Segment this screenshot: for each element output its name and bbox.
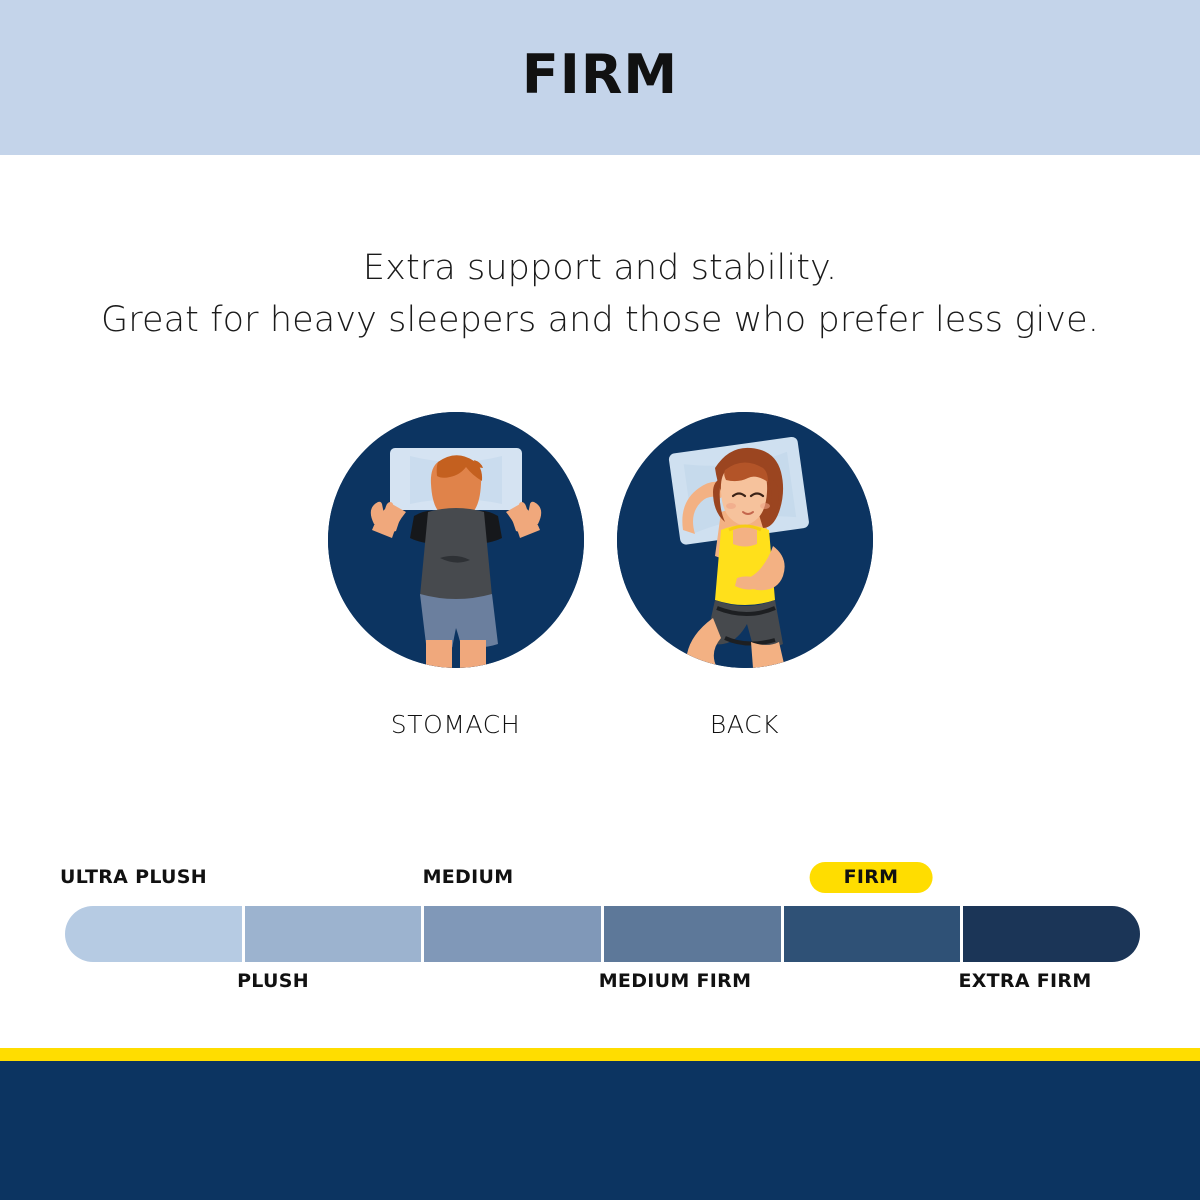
firmness-label-ultra-plush[interactable]: ULTRA PLUSH — [60, 862, 207, 892]
firmness-label-extra-firm[interactable]: EXTRA FIRM — [958, 966, 1091, 996]
stomach-sleeper-illustration — [328, 412, 584, 668]
footer-accent-stripe — [0, 1048, 1200, 1061]
firmness-label-plush[interactable]: PLUSH — [237, 966, 309, 996]
header-band: FIRM — [0, 0, 1200, 155]
sleep-positions-group: STOMACH — [0, 412, 1200, 739]
firmness-label-medium[interactable]: MEDIUM — [423, 862, 514, 892]
position-card-back: BACK — [617, 412, 873, 739]
position-label-back: BACK — [710, 710, 779, 739]
firmness-segment-ultra-plush[interactable] — [65, 906, 242, 962]
firmness-label-firm-selected[interactable]: FIRM — [810, 862, 933, 893]
firmness-labels-top: ULTRA PLUSH MEDIUM FIRM — [65, 862, 1140, 894]
firmness-labels-bottom: PLUSH MEDIUM FIRM EXTRA FIRM — [65, 966, 1140, 998]
firmness-segment-firm[interactable] — [784, 906, 961, 962]
firmness-segment-medium-firm[interactable] — [604, 906, 781, 962]
subtitle-line-1: Extra support and stability. — [0, 243, 1200, 295]
position-label-stomach: STOMACH — [391, 710, 521, 739]
position-card-stomach: STOMACH — [328, 412, 584, 739]
firmness-segment-medium[interactable] — [424, 906, 601, 962]
firmness-segment-extra-firm[interactable] — [963, 906, 1140, 962]
firmness-segment-plush[interactable] — [245, 906, 422, 962]
firmness-label-medium-firm[interactable]: MEDIUM FIRM — [599, 966, 752, 996]
subtitle-block: Extra support and stability. Great for h… — [0, 243, 1200, 347]
firmness-scale-bar[interactable] — [65, 906, 1140, 962]
subtitle-line-2: Great for heavy sleepers and those who p… — [0, 295, 1200, 347]
firmness-scale: ULTRA PLUSH MEDIUM FIRM PLUSH MEDIUM FIR… — [65, 862, 1140, 1012]
back-sleeper-illustration — [617, 412, 873, 668]
firmness-guide-page: FIRM Extra support and stability. Great … — [0, 0, 1200, 1200]
footer-band: Serta ® — [0, 1061, 1200, 1200]
page-title: FIRM — [522, 48, 678, 108]
